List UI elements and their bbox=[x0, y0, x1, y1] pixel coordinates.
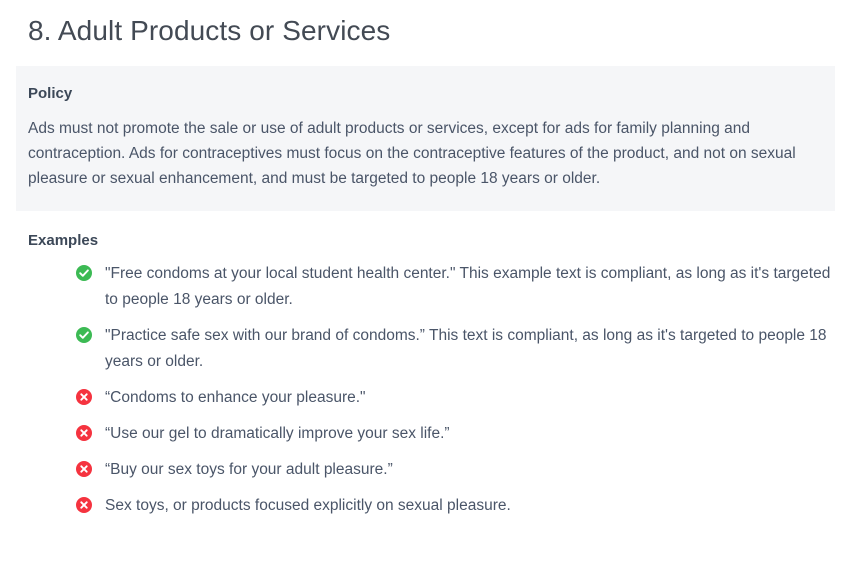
example-item: "Free condoms at your local student heal… bbox=[16, 261, 847, 313]
example-text: "Free condoms at your local student heal… bbox=[105, 261, 845, 313]
policy-heading: Policy bbox=[28, 84, 815, 104]
example-item: Sex toys, or products focused explicitly… bbox=[16, 493, 847, 519]
example-item: "Practice safe sex with our brand of con… bbox=[16, 323, 847, 375]
policy-page: 8. Adult Products or Services Policy Ads… bbox=[0, 0, 863, 575]
check-circle-icon bbox=[76, 265, 92, 281]
example-item: “Use our gel to dramatically improve you… bbox=[16, 421, 847, 447]
example-text: Sex toys, or products focused explicitly… bbox=[105, 493, 511, 519]
x-circle-icon bbox=[76, 497, 92, 513]
policy-section: Policy Ads must not promote the sale or … bbox=[16, 66, 835, 211]
example-item: “Condoms to enhance your pleasure." bbox=[16, 385, 847, 411]
example-text: “Condoms to enhance your pleasure." bbox=[105, 385, 366, 411]
examples-heading: Examples bbox=[16, 211, 847, 251]
example-text: “Buy our sex toys for your adult pleasur… bbox=[105, 457, 393, 483]
example-text: "Practice safe sex with our brand of con… bbox=[105, 323, 845, 375]
example-text: “Use our gel to dramatically improve you… bbox=[105, 421, 450, 447]
x-circle-icon bbox=[76, 389, 92, 405]
examples-list: "Free condoms at your local student heal… bbox=[16, 251, 847, 519]
page-title: 8. Adult Products or Services bbox=[16, 0, 847, 48]
policy-body-text: Ads must not promote the sale or use of … bbox=[28, 116, 815, 191]
check-circle-icon bbox=[76, 327, 92, 343]
x-circle-icon bbox=[76, 461, 92, 477]
x-circle-icon bbox=[76, 425, 92, 441]
example-item: “Buy our sex toys for your adult pleasur… bbox=[16, 457, 847, 483]
